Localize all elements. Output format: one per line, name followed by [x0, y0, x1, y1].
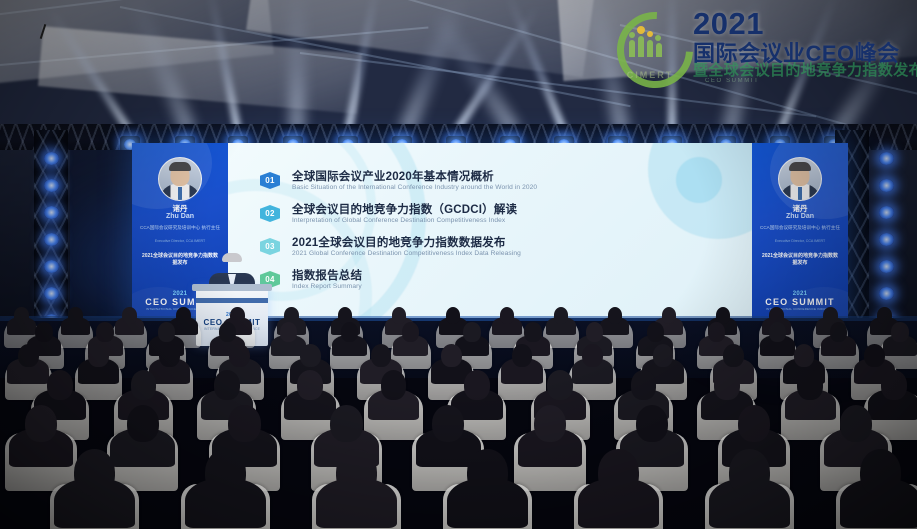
audience-head — [586, 322, 603, 342]
audience-head — [176, 307, 191, 324]
audience-head — [534, 405, 566, 442]
audience-head — [794, 344, 815, 368]
audience-head — [228, 405, 260, 442]
audience-head — [381, 370, 407, 399]
audience-head — [330, 405, 362, 442]
audience-head — [877, 307, 892, 324]
audience-head — [769, 322, 786, 342]
agenda-title-cn: 全球会议目的地竞争力指数（GCDCI）解读 — [292, 201, 517, 217]
speaker-portrait-right — [778, 157, 822, 201]
speaker-portrait — [158, 157, 202, 201]
audience — [0, 300, 917, 529]
agenda-item[interactable]: 02全球会议目的地竞争力指数（GCDCI）解读Interpretation of… — [260, 202, 752, 235]
audience-head — [716, 307, 731, 324]
cimert-logo-text: CIMERT — [613, 70, 687, 80]
agenda-badge: 03 — [260, 238, 280, 255]
audience-head — [230, 307, 245, 324]
audience-head — [14, 307, 29, 324]
speaker-name-en: Zhu Dan — [132, 213, 228, 220]
agenda-title-cn: 指数报告总结 — [292, 267, 362, 283]
truss-led — [44, 233, 59, 246]
audience-head — [25, 405, 57, 442]
truss-led — [879, 287, 894, 300]
audience-head — [122, 307, 137, 324]
audience-head — [35, 322, 52, 342]
watermark-subtitle: 暨全球会议目的地竞争力指数发布 — [693, 59, 917, 80]
truss-led — [879, 179, 894, 192]
speaker-role-en: Executive Director, CCA IMERT — [132, 239, 228, 243]
audience-head — [723, 344, 744, 368]
audience-head — [441, 344, 462, 368]
cimert-logo-icon: CIMERT — [613, 10, 687, 84]
truss-led — [44, 179, 59, 192]
audience-head — [127, 405, 159, 442]
audience-head — [219, 322, 236, 342]
truss-led — [879, 206, 894, 219]
agenda-item[interactable]: 01全球国际会议产业2020年基本情况概析Basic Situation of … — [260, 169, 752, 202]
agenda-list: 01全球国际会议产业2020年基本情况概析Basic Situation of … — [260, 169, 752, 301]
audience-head — [229, 344, 250, 368]
audience-head — [860, 449, 901, 495]
audience-head — [158, 322, 175, 342]
audience-head — [297, 370, 323, 399]
agenda-item[interactable]: 04指数报告总结Index Report Summary — [260, 268, 752, 301]
audience-head — [881, 370, 907, 399]
audience-head — [714, 370, 740, 399]
audience-head — [463, 322, 480, 342]
audience-head — [840, 405, 872, 442]
agenda-title-en: Index Report Summary — [292, 283, 362, 290]
truss-led — [44, 206, 59, 219]
audience-head — [18, 344, 39, 368]
audience-head — [467, 449, 508, 495]
agenda-title-en: 2021 Global Conference Destination Compe… — [292, 250, 521, 257]
audience-head — [214, 370, 240, 399]
audience-head — [338, 307, 353, 324]
audience-head — [769, 307, 784, 324]
audience-head — [47, 370, 73, 399]
audience-head — [823, 307, 838, 324]
audience-head — [554, 307, 569, 324]
audience-head — [662, 307, 677, 324]
truss-led — [44, 152, 59, 165]
agenda-item[interactable]: 032021全球会议目的地竞争力指数数据发布2021 Global Confer… — [260, 235, 752, 268]
audience-head — [647, 322, 664, 342]
audience-head — [96, 322, 113, 342]
truss-led — [879, 260, 894, 273]
audience-head — [284, 307, 299, 324]
audience-head — [631, 370, 657, 399]
audience-head — [74, 449, 115, 495]
audience-head — [88, 344, 109, 368]
speaker-topic-right: 2021全球会议目的地竞争力指数数据发布 — [752, 253, 848, 267]
audience-head — [464, 370, 490, 399]
audience-head — [608, 307, 623, 324]
audience-head — [68, 307, 83, 324]
agenda-badge: 02 — [260, 205, 280, 222]
truss-led — [879, 233, 894, 246]
audience-head — [636, 405, 668, 442]
audience-head — [392, 307, 407, 324]
audience-head — [598, 449, 639, 495]
audience-head — [524, 322, 541, 342]
agenda-title-cn: 2021全球会议目的地竞争力指数数据发布 — [292, 234, 506, 250]
audience-head — [708, 322, 725, 342]
agenda-title-en: Basic Situation of the International Con… — [292, 184, 537, 191]
audience-head — [159, 344, 180, 368]
speaker-role-cn: CCA国际会议研究及培训中心 执行主任 — [132, 225, 228, 231]
audience-head — [830, 322, 847, 342]
speaker-panel-right: 诸丹 Zhu Dan CCA国际会议研究及培训中心 执行主任 Executive… — [752, 143, 848, 323]
speaker-name-en-right: Zhu Dan — [752, 213, 848, 220]
audience-head — [402, 322, 419, 342]
audience-head — [864, 344, 885, 368]
audience-head — [341, 322, 358, 342]
audience-head — [300, 344, 321, 368]
audience-head — [582, 344, 603, 368]
audience-head — [738, 405, 770, 442]
audience-head — [512, 344, 533, 368]
audience-head — [547, 370, 573, 399]
watermark: CIMERT 2021 国际会议业CEO峰会 暨全球会议目的地竞争力指数发布 C… — [609, 4, 909, 104]
speaker-role-en-right: Executive Director, CCA IMERT — [752, 239, 848, 243]
audience-head — [446, 307, 461, 324]
audience-head — [131, 370, 157, 399]
agenda-title-en: Interpretation of Global Conference Dest… — [292, 217, 505, 224]
truss-led — [879, 152, 894, 165]
audience-head — [432, 405, 464, 442]
audience-head — [500, 307, 515, 324]
agenda-badge: 01 — [260, 172, 280, 189]
audience-head — [371, 344, 392, 368]
audience-head — [891, 322, 908, 342]
watermark-subtitle-en: CEO SUMMIT — [705, 78, 759, 84]
audience-head — [336, 449, 377, 495]
agenda-panel: 01全球国际会议产业2020年基本情况概析Basic Situation of … — [228, 143, 752, 323]
audience-head — [729, 449, 770, 495]
agenda-title-cn: 全球国际会议产业2020年基本情况概析 — [292, 168, 494, 184]
truss-led — [44, 287, 59, 300]
conference-photo: 诸丹 Zhu Dan CCA国际会议研究及培训中心 执行主任 Executive… — [0, 0, 917, 529]
audience-head — [797, 370, 823, 399]
audience-head — [205, 449, 246, 495]
audience-head — [280, 322, 297, 342]
truss-led — [44, 260, 59, 273]
speaker-role-cn-right: CCA国际会议研究及培训中心 执行主任 — [752, 225, 848, 231]
audience-head — [653, 344, 674, 368]
